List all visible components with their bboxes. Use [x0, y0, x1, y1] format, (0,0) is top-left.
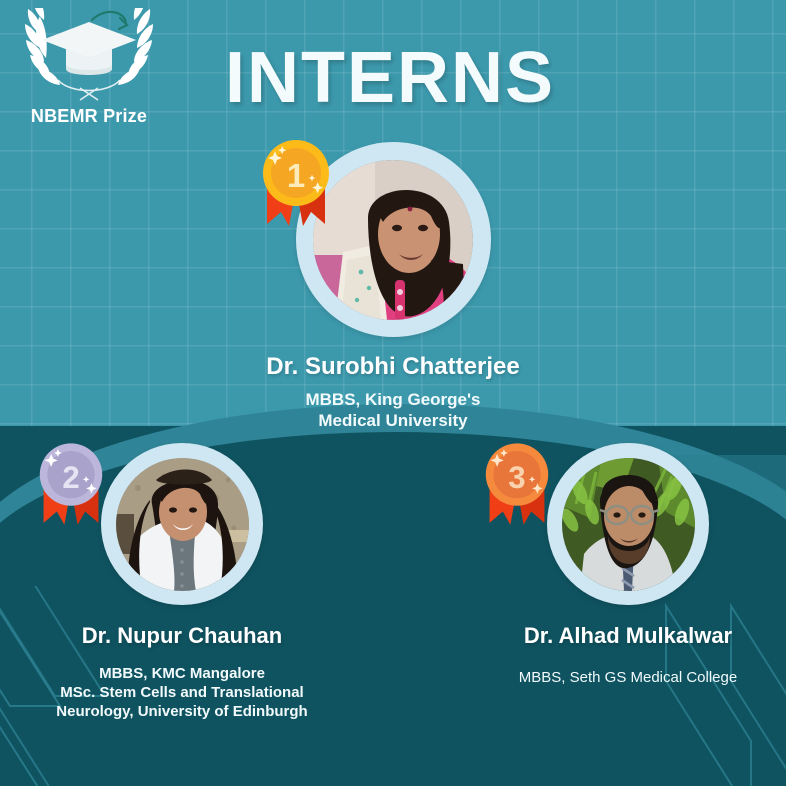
winner-2-photo [116, 458, 249, 591]
winner-2-photo-wrap: 2 [22, 443, 342, 605]
winner-3-affiliation-line-1: MBBS, Seth GS Medical College [468, 669, 786, 688]
medal-rank-number-3: 3 [508, 460, 525, 495]
winner-3-affiliation: MBBS, Seth GS Medical College [468, 669, 786, 688]
winner-1-name: Dr. Surobhi Chatterjee [243, 353, 543, 381]
winner-card-2: 2 Dr. Nupur Chauhan MBBS, KMC Mangalore … [22, 443, 342, 722]
winner-1-photo-wrap: 1 [243, 142, 543, 337]
winner-2-affiliation-line-2: MSc. Stem Cells and Translational [22, 684, 342, 703]
medal-rank-number-2: 2 [62, 460, 79, 495]
winner-1-affiliation: MBBS, King George's Medical University [243, 389, 543, 432]
bronze-medal-icon: 3 [482, 439, 552, 531]
medal-rank-2: 2 [36, 439, 106, 531]
winner-3-name: Dr. Alhad Mulkalwar [468, 623, 786, 649]
winner-2-affiliation: MBBS, KMC Mangalore MSc. Stem Cells and … [22, 665, 342, 722]
winner-2-affiliation-line-1: MBBS, KMC Mangalore [22, 665, 342, 684]
medal-rank-3: 3 [482, 439, 552, 531]
page-title: INTERNS [180, 42, 600, 114]
medal-rank-number-1: 1 [287, 157, 305, 194]
winner-card-3: 3 Dr. Alhad Mulkalwar MBBS, Seth GS Medi… [468, 443, 786, 688]
winner-card-1: 1 Dr. Surobhi Chatterjee MBBS, King Geor… [243, 142, 543, 432]
winner-3-photo-ring [547, 443, 709, 605]
winner-3-photo [562, 458, 695, 591]
nbemr-logo: NBEMR Prize [14, 8, 164, 134]
winner-1-affiliation-line-2: Medical University [243, 410, 543, 431]
winner-2-name: Dr. Nupur Chauhan [22, 623, 342, 649]
interns-award-poster: NBEMR Prize INTERNS [0, 0, 786, 786]
medal-rank-1: 1 [259, 136, 333, 232]
graduation-cap-laurel-wreath-icon [14, 8, 164, 108]
logo-text: NBEMR Prize [14, 106, 164, 127]
winner-2-photo-ring [101, 443, 263, 605]
gold-medal-icon: 1 [259, 136, 333, 232]
winner-1-affiliation-line-1: MBBS, King George's [243, 389, 543, 410]
winner-2-affiliation-line-3: Neurology, University of Edinburgh [22, 703, 342, 722]
silver-medal-icon: 2 [36, 439, 106, 531]
winner-1-photo [313, 160, 473, 320]
winner-3-photo-wrap: 3 [468, 443, 786, 605]
